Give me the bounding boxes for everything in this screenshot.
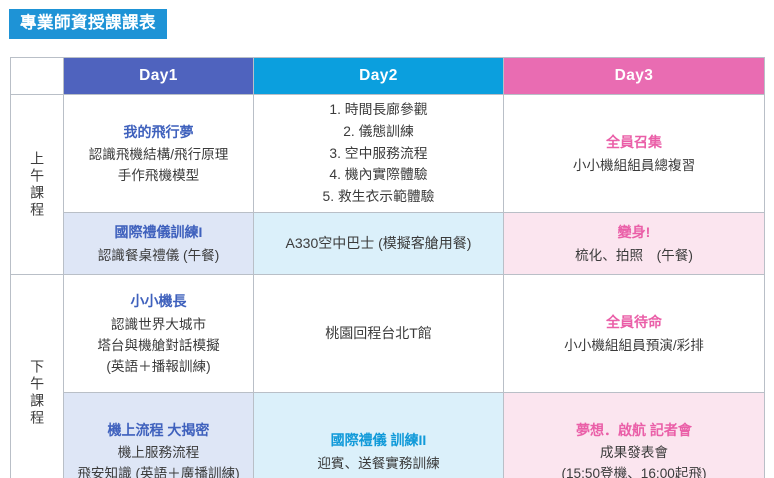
cell-line: 認識世界大城市 [64,314,253,335]
cell-day1-afternoon-second: 機上流程 大揭密 機上服務流程 飛安知識 (英語＋廣播訓練) [64,393,254,478]
row-group-label-morning: 上午課程 [11,95,64,275]
cell-day2-afternoon-main: 桃園回程台北T館 [254,275,504,393]
cell-line: 成果發表會 [504,442,764,463]
cell-title: 機上流程 大揭密 [64,419,253,441]
cell-line: 機上服務流程 [64,442,253,463]
column-header-day2: Day2 [254,58,504,95]
list-item: 儀態訓練 [254,121,503,143]
cell-title: 夢想．啟航 記者會 [504,419,764,441]
cell-day3-morning-lunch: 變身! 梳化、拍照 (午餐) [504,213,765,275]
row-group-label-afternoon-text: 下午課程 [27,359,47,427]
course-schedule-table: Day1 Day2 Day3 上午課程 我的飛行夢 認識飛機結構/飛行原理 手作… [10,57,765,478]
list-item: 機內實際體驗 [254,164,503,186]
schedule-page: 專業師資授課課表 Day1 Day2 Day3 上午課程 我的飛 [0,0,774,478]
cell-title: 國際禮儀 訓練II [254,429,503,451]
cell-day2-morning-main: 時間長廊參觀 儀態訓練 空中服務流程 機內實際體驗 救生衣示範體驗 [254,95,504,213]
cell-line: 桃園回程台北T館 [254,323,503,344]
cell-day1-afternoon-main: 小小機長 認識世界大城市 塔台與機艙對話模擬 (英語＋播報訓練) [64,275,254,393]
table-row-morning-main: 上午課程 我的飛行夢 認識飛機結構/飛行原理 手作飛機模型 時間長廊參觀 儀態訓… [11,95,765,213]
column-header-day1: Day1 [64,58,254,95]
table-row-afternoon-second: 機上流程 大揭密 機上服務流程 飛安知識 (英語＋廣播訓練) 國際禮儀 訓練II… [11,393,765,478]
list-item: 救生衣示範體驗 [254,186,503,208]
cell-title: 全員召集 [504,131,764,153]
cell-line: 認識飛機結構/飛行原理 [64,144,253,165]
cell-line: 認識餐桌禮儀 (午餐) [64,245,253,266]
activity-list: 時間長廊參觀 儀態訓練 空中服務流程 機內實際體驗 救生衣示範體驗 [254,99,503,208]
cell-line: A330空中巴士 (模擬客艙用餐) [254,233,503,254]
cell-title: 變身! [504,221,764,243]
cell-line: 手作飛機模型 [64,165,253,186]
list-item: 空中服務流程 [254,143,503,165]
cell-line: 迎賓、送餐實務訓練 [254,453,503,474]
cell-line: 梳化、拍照 (午餐) [504,245,764,266]
cell-line: 小小機組組員總複習 [504,155,764,176]
cell-day2-morning-lunch: A330空中巴士 (模擬客艙用餐) [254,213,504,275]
table-corner-cell [11,58,64,95]
cell-line: 塔台與機艙對話模擬 [64,335,253,356]
cell-line: (英語＋播報訓練) [64,356,253,377]
cell-day1-morning-main: 我的飛行夢 認識飛機結構/飛行原理 手作飛機模型 [64,95,254,213]
cell-title: 小小機長 [64,290,253,312]
cell-day3-afternoon-second: 夢想．啟航 記者會 成果發表會 (15:50登機、16:00起飛) [504,393,765,478]
cell-title: 國際禮儀訓練I [64,221,253,243]
cell-title: 全員待命 [504,311,764,333]
row-group-label-morning-text: 上午課程 [27,151,47,219]
row-group-label-afternoon: 下午課程 [11,275,64,478]
cell-line: 飛安知識 (英語＋廣播訓練) [64,463,253,478]
page-title-badge: 專業師資授課課表 [9,9,167,39]
table-row-morning-lunch: 國際禮儀訓練I 認識餐桌禮儀 (午餐) A330空中巴士 (模擬客艙用餐) 變身… [11,213,765,275]
cell-line: 小小機組組員預演/彩排 [504,335,764,356]
table-header-row: Day1 Day2 Day3 [11,58,765,95]
cell-day3-morning-main: 全員召集 小小機組組員總複習 [504,95,765,213]
cell-day3-afternoon-main: 全員待命 小小機組組員預演/彩排 [504,275,765,393]
column-header-day3: Day3 [504,58,765,95]
list-item: 時間長廊參觀 [254,99,503,121]
cell-day1-morning-lunch: 國際禮儀訓練I 認識餐桌禮儀 (午餐) [64,213,254,275]
cell-day2-afternoon-second: 國際禮儀 訓練II 迎賓、送餐實務訓練 [254,393,504,478]
table-row-afternoon-main: 下午課程 小小機長 認識世界大城市 塔台與機艙對話模擬 (英語＋播報訓練) 桃園… [11,275,765,393]
cell-title: 我的飛行夢 [64,121,253,143]
cell-line: (15:50登機、16:00起飛) [504,463,764,478]
